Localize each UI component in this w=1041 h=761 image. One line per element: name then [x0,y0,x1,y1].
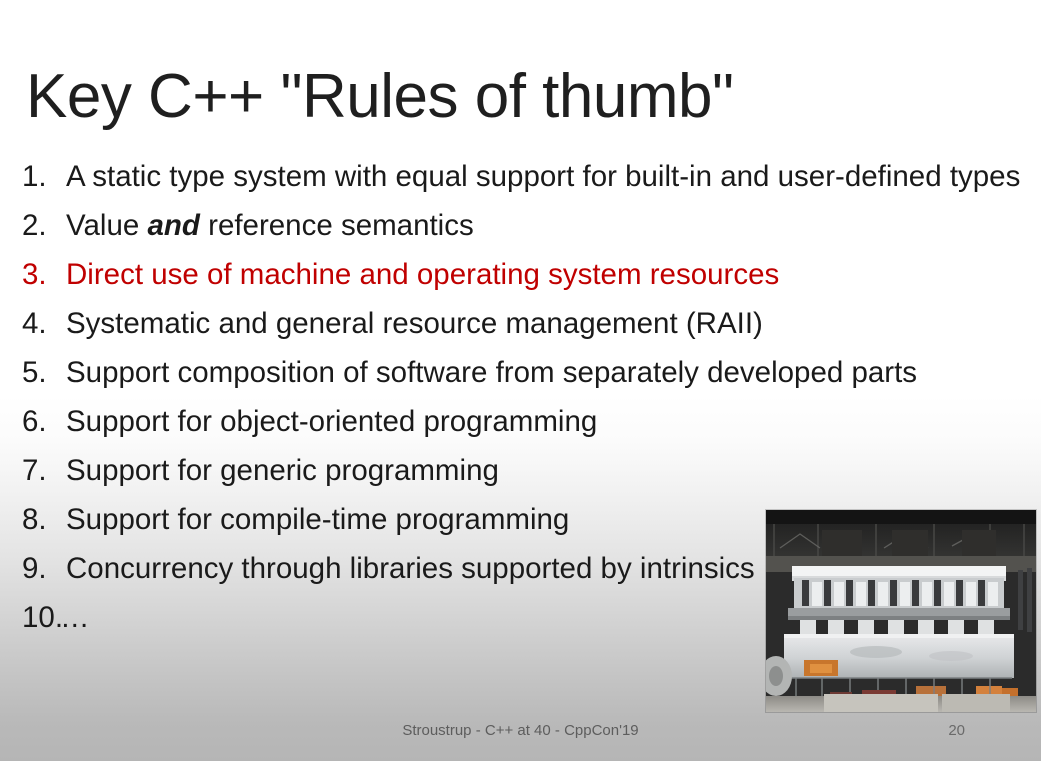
list-item: 4. Systematic and general resource manag… [22,307,1012,356]
list-item: 3. Direct use of machine and operating s… [22,258,1012,307]
list-item-text: Support for compile-time programming [66,503,569,537]
list-item: 6. Support for object-oriented programmi… [22,405,1012,454]
list-item-number: 5. [22,356,66,390]
list-item: 5. Support composition of software from … [22,356,1012,405]
list-item-number: 4. [22,307,66,341]
list-item-number: 1. [22,160,66,194]
list-item-text-before: Value [66,209,147,242]
list-item: 7. Support for generic programming [22,454,1012,503]
list-item-emphasis: and [147,209,199,242]
list-item-text: Support for object-oriented programming [66,405,597,439]
page-number: 20 [948,722,965,739]
page-title: Key C++ "Rules of thumb" [26,64,733,129]
list-item-number: 9. [22,552,66,586]
list-item-text-after: reference semantics [200,209,474,242]
list-item-text: Concurrency through libraries supported … [66,552,755,586]
list-item-text: … [60,601,90,635]
list-item-text: Direct use of machine and operating syst… [66,258,779,292]
list-item-number: 2. [22,209,66,243]
list-item-text: Support for generic programming [66,454,499,488]
list-item-text: A static type system with equal support … [66,160,1020,194]
slide-canvas: Key C++ "Rules of thumb" 1. A static typ… [0,0,1041,761]
list-item-number: 8. [22,503,66,537]
list-item-text: Systematic and general resource manageme… [66,307,763,341]
list-item-number: 6. [22,405,66,439]
list-item-text: Support composition of software from sep… [66,356,917,390]
list-item-number: 7. [22,454,66,488]
list-item-number: 3. [22,258,66,292]
engine-photograph [766,510,1036,712]
list-item: 1. A static type system with equal suppo… [22,160,1012,209]
list-item: 2. Value and reference semantics [22,209,1012,258]
footer-note: Stroustrup - C++ at 40 - CppCon'19 [0,722,1041,739]
list-item-text: Value and reference semantics [66,209,474,243]
